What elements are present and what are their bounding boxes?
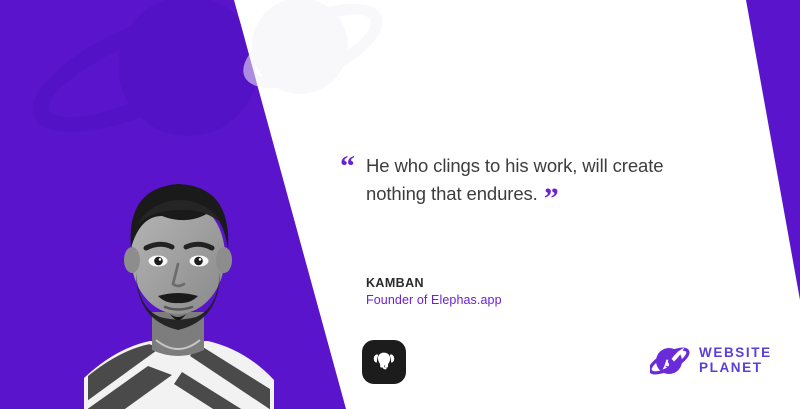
planet-rocket-icon xyxy=(650,340,692,380)
brand-line-1: WEBSITE xyxy=(699,345,772,360)
planet-watermark-icon xyxy=(26,0,256,165)
quote-text: He who clings to his work, will create n… xyxy=(366,155,663,204)
planet-watermark-light-icon xyxy=(244,0,384,122)
watermark-light-body xyxy=(252,0,348,94)
portrait-photo xyxy=(78,144,278,409)
quote-block: “ He who clings to his work, will create… xyxy=(340,152,670,214)
website-planet-logo[interactable]: WEBSITE PLANET xyxy=(650,340,772,380)
author-role: Founder of Elephas.app xyxy=(366,293,502,307)
watermark-planet-body xyxy=(118,0,258,136)
attribution: KAMBAN Founder of Elephas.app xyxy=(366,276,502,307)
close-quote-icon: ” xyxy=(544,184,559,214)
elephas-app-badge[interactable] xyxy=(362,340,406,384)
elephant-icon xyxy=(369,347,399,377)
author-name: KAMBAN xyxy=(366,276,502,290)
testimonial-card: “ He who clings to his work, will create… xyxy=(0,0,800,409)
watermark-planet-ring xyxy=(16,0,264,157)
brand-text: WEBSITE PLANET xyxy=(699,345,772,375)
brand-line-2: PLANET xyxy=(699,360,772,375)
open-quote-icon: “ xyxy=(340,152,355,182)
quote-text-container: He who clings to his work, will create n… xyxy=(366,152,670,214)
